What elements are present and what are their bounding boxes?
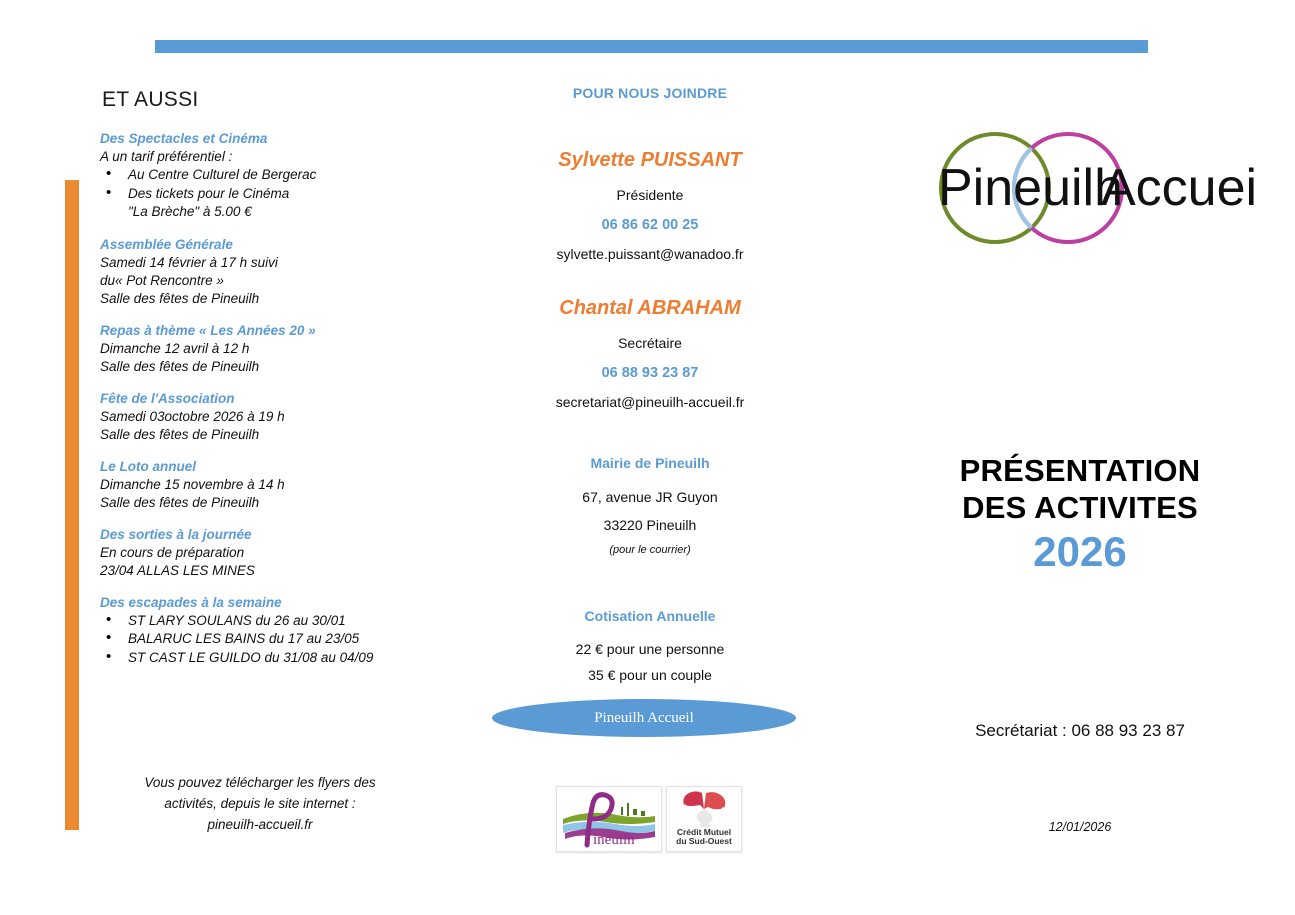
activity-block: Des Spectacles et CinémaA un tarif préfé…: [100, 130, 430, 222]
activity-bullet-text: ST LARY SOULANS du 26 au 30/01: [128, 613, 346, 628]
activity-block-line: du« Pot Rencontre »: [100, 272, 430, 290]
credit-mutuel-logo-graphic: Crédit Mutuel du Sud-Ouest: [669, 789, 739, 849]
document-title-line2: DES ACTIVITES: [900, 489, 1260, 526]
left-column-heading: ET AUSSI: [102, 88, 430, 112]
pineuilh-town-logo: ineuilh: [556, 786, 662, 852]
brand-logo-graphic: Pineuilh Accueil: [905, 128, 1255, 248]
activity-bullet-item: ST CAST LE GUILDO du 31/08 au 04/09: [100, 649, 430, 668]
contact-card-president: Sylvette PUISSANT Présidente 06 86 62 00…: [490, 147, 810, 265]
activity-block-line: Samedi 14 février à 17 h suivi: [100, 254, 430, 272]
brand-word-pineuilh: Pineuilh: [938, 159, 1123, 217]
address-street: 67, avenue JR Guyon: [490, 483, 810, 511]
activity-block-title: Des sorties à la journée: [100, 526, 430, 543]
partner-logos: ineuilh Crédit Mutuel du Sud-Ouest: [556, 786, 742, 852]
activity-block: Le Loto annuelDimanche 15 novembre à 14 …: [100, 458, 430, 512]
contact-email[interactable]: sylvette.puissant@wanadoo.fr: [490, 243, 810, 265]
activity-block: Assemblée GénéraleSamedi 14 février à 17…: [100, 236, 430, 308]
contact-card-secretary: Chantal ABRAHAM Secrétaire 06 88 93 23 8…: [490, 295, 810, 413]
activity-block-title: Le Loto annuel: [100, 458, 430, 475]
activity-block-title: Repas à thème « Les Années 20 »: [100, 322, 430, 339]
fee-couple: 35 € pour un couple: [490, 662, 810, 688]
document-title-line1: PRÉSENTATION: [900, 452, 1260, 489]
activity-block-title: Fête de l'Association: [100, 390, 430, 407]
contact-role: Présidente: [490, 184, 810, 206]
contact-heading: POUR NOUS JOINDRE: [490, 85, 810, 101]
contact-name: Sylvette PUISSANT: [490, 147, 810, 173]
activity-block-line: 23/04 ALLAS LES MINES: [100, 562, 430, 580]
ellipse-badge-label: Pineuilh Accueil: [594, 710, 694, 727]
secretariat-contact: Secrétariat : 06 88 93 23 87: [900, 721, 1260, 741]
activity-block: Des sorties à la journéeEn cours de prép…: [100, 526, 430, 580]
activity-block-title: Des escapades à la semaine: [100, 594, 430, 611]
address-note: (pour le courrier): [490, 539, 810, 561]
top-accent-bar: [155, 40, 1148, 53]
pineuilh-accueil-ellipse-badge[interactable]: Pineuilh Accueil: [492, 699, 796, 737]
activity-block-line: A un tarif préférentiel :: [100, 148, 430, 166]
pineuilh-accueil-brand-logo: Pineuilh Accueil: [905, 128, 1255, 248]
activity-block-line: Dimanche 15 novembre à 14 h: [100, 476, 430, 494]
activity-block: Fête de l'AssociationSamedi 03octobre 20…: [100, 390, 430, 444]
activity-bullet-list: Au Centre Culturel de BergeracDes ticket…: [100, 166, 430, 222]
activity-bullet-text: Au Centre Culturel de Bergerac: [128, 167, 316, 182]
pineuilh-town-logo-graphic: ineuilh: [559, 789, 659, 849]
activity-bullet-continuation: "La Brèche" à 5.00 €: [128, 203, 430, 222]
activity-bullet-list: ST LARY SOULANS du 26 au 30/01BALARUC LE…: [100, 612, 430, 668]
activity-bullet-text: ST CAST LE GUILDO du 31/08 au 04/09: [128, 650, 373, 665]
fees-block: Cotisation Annuelle 22 € pour une person…: [490, 608, 810, 688]
activity-bullet-item: Des tickets pour le Cinéma"La Brèche" à …: [100, 185, 430, 222]
credit-mutuel-caption-line2: du Sud-Ouest: [676, 836, 732, 846]
activity-bullet-item: Au Centre Culturel de Bergerac: [100, 166, 430, 185]
document-date: 12/01/2026: [960, 820, 1200, 834]
address-block: Mairie de Pineuilh 67, avenue JR Guyon 3…: [490, 455, 810, 561]
address-title: Mairie de Pineuilh: [490, 455, 810, 471]
activity-block-line: Samedi 03octobre 2026 à 19 h: [100, 408, 430, 426]
download-note-line: activités, depuis le site internet :: [100, 793, 420, 814]
activity-block: Repas à thème « Les Années 20 »Dimanche …: [100, 322, 430, 376]
brochure-page: ET AUSSI Des Spectacles et CinémaA un ta…: [0, 0, 1295, 915]
contact-name: Chantal ABRAHAM: [490, 295, 810, 321]
activity-bullet-text: Des tickets pour le Cinéma: [128, 186, 289, 201]
activity-bullet-item: BALARUC LES BAINS du 17 au 23/05: [100, 630, 430, 649]
activity-block-line: Salle des fêtes de Pineuilh: [100, 426, 430, 444]
fees-title: Cotisation Annuelle: [490, 608, 810, 624]
activity-block-line: En cours de préparation: [100, 544, 430, 562]
contact-phone[interactable]: 06 86 62 00 25: [490, 214, 810, 236]
document-title-block: PRÉSENTATION DES ACTIVITES 2026: [900, 452, 1260, 578]
activity-block-list: Des Spectacles et CinémaA un tarif préfé…: [100, 130, 430, 667]
fee-single: 22 € pour une personne: [490, 636, 810, 662]
pineuilh-logo-text: ineuilh: [593, 832, 635, 848]
document-title-year: 2026: [900, 526, 1260, 578]
activity-block-line: Salle des fêtes de Pineuilh: [100, 494, 430, 512]
contact-role: Secrétaire: [490, 332, 810, 354]
left-column: ET AUSSI Des Spectacles et CinémaA un ta…: [100, 88, 430, 681]
address-city: 33220 Pineuilh: [490, 511, 810, 539]
activity-block-line: Salle des fêtes de Pineuilh: [100, 290, 430, 308]
credit-mutuel-sud-ouest-logo: Crédit Mutuel du Sud-Ouest: [666, 786, 742, 852]
download-note: Vous pouvez télécharger les flyers des a…: [100, 772, 420, 835]
download-note-website[interactable]: pineuilh-accueil.fr: [100, 814, 420, 835]
activity-block: Des escapades à la semaineST LARY SOULAN…: [100, 594, 430, 668]
contact-email[interactable]: secretariat@pineuilh-accueil.fr: [490, 391, 810, 413]
middle-column: POUR NOUS JOINDRE Sylvette PUISSANT Prés…: [490, 85, 810, 688]
activity-block-line: Salle des fêtes de Pineuilh: [100, 358, 430, 376]
activity-bullet-item: ST LARY SOULANS du 26 au 30/01: [100, 612, 430, 631]
left-accent-bar: [65, 180, 79, 830]
contact-phone[interactable]: 06 88 93 23 87: [490, 362, 810, 384]
download-note-line: Vous pouvez télécharger les flyers des: [100, 772, 420, 793]
activity-bullet-text: BALARUC LES BAINS du 17 au 23/05: [128, 631, 359, 646]
activity-block-line: Dimanche 12 avril à 12 h: [100, 340, 430, 358]
brand-word-accueil: Accueil: [1101, 159, 1255, 217]
activity-block-title: Des Spectacles et Cinéma: [100, 130, 430, 147]
activity-block-title: Assemblée Générale: [100, 236, 430, 253]
